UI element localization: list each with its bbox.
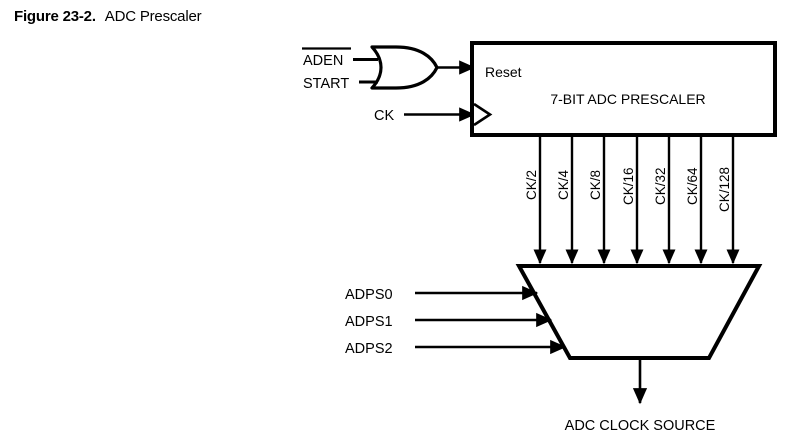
select-input-adps1: ADPS1 xyxy=(345,314,551,330)
prescaler-schematic: ADEN START CK Reset 7-BIT ADC PRESCALER xyxy=(0,0,800,448)
multiplexer-body xyxy=(519,266,759,358)
select-label-adps2: ADPS2 xyxy=(345,341,393,357)
select-label-adps0: ADPS0 xyxy=(345,287,393,303)
tap-label-ck4: CK/4 xyxy=(556,169,571,200)
multiplexer xyxy=(519,266,759,358)
tap-label-ck16: CK/16 xyxy=(621,167,636,205)
tap-label-ck2: CK/2 xyxy=(524,170,539,200)
select-input-adps0: ADPS0 xyxy=(345,287,537,303)
tap-label-ck32: CK/32 xyxy=(653,167,668,205)
output-label: ADC CLOCK SOURCE xyxy=(565,418,716,434)
reset-label: Reset xyxy=(485,64,522,80)
or-gate-body xyxy=(372,47,437,88)
or-gate xyxy=(372,47,437,88)
select-label-adps1: ADPS1 xyxy=(345,314,393,330)
prescaler-block-outline xyxy=(472,43,775,135)
input-start: START xyxy=(303,76,378,92)
input-ck-label: CK xyxy=(374,108,394,124)
input-aden-label: ADEN xyxy=(303,53,343,69)
input-aden: ADEN xyxy=(302,49,378,70)
mux-output: ADC CLOCK SOURCE xyxy=(565,358,716,434)
tap-label-ck64: CK/64 xyxy=(685,167,700,205)
prescaler-block: Reset 7-BIT ADC PRESCALER xyxy=(472,43,775,135)
tap-label-ck128: CK/128 xyxy=(717,167,732,212)
input-start-label: START xyxy=(303,76,349,92)
input-ck: CK xyxy=(374,108,474,124)
figure-adc-prescaler: Figure 23-2.ADC Prescaler ADEN START CK xyxy=(0,0,800,448)
prescaler-block-title: 7-BIT ADC PRESCALER xyxy=(550,91,705,107)
select-input-adps2: ADPS2 xyxy=(345,341,565,357)
tap-label-ck8: CK/8 xyxy=(588,170,603,200)
